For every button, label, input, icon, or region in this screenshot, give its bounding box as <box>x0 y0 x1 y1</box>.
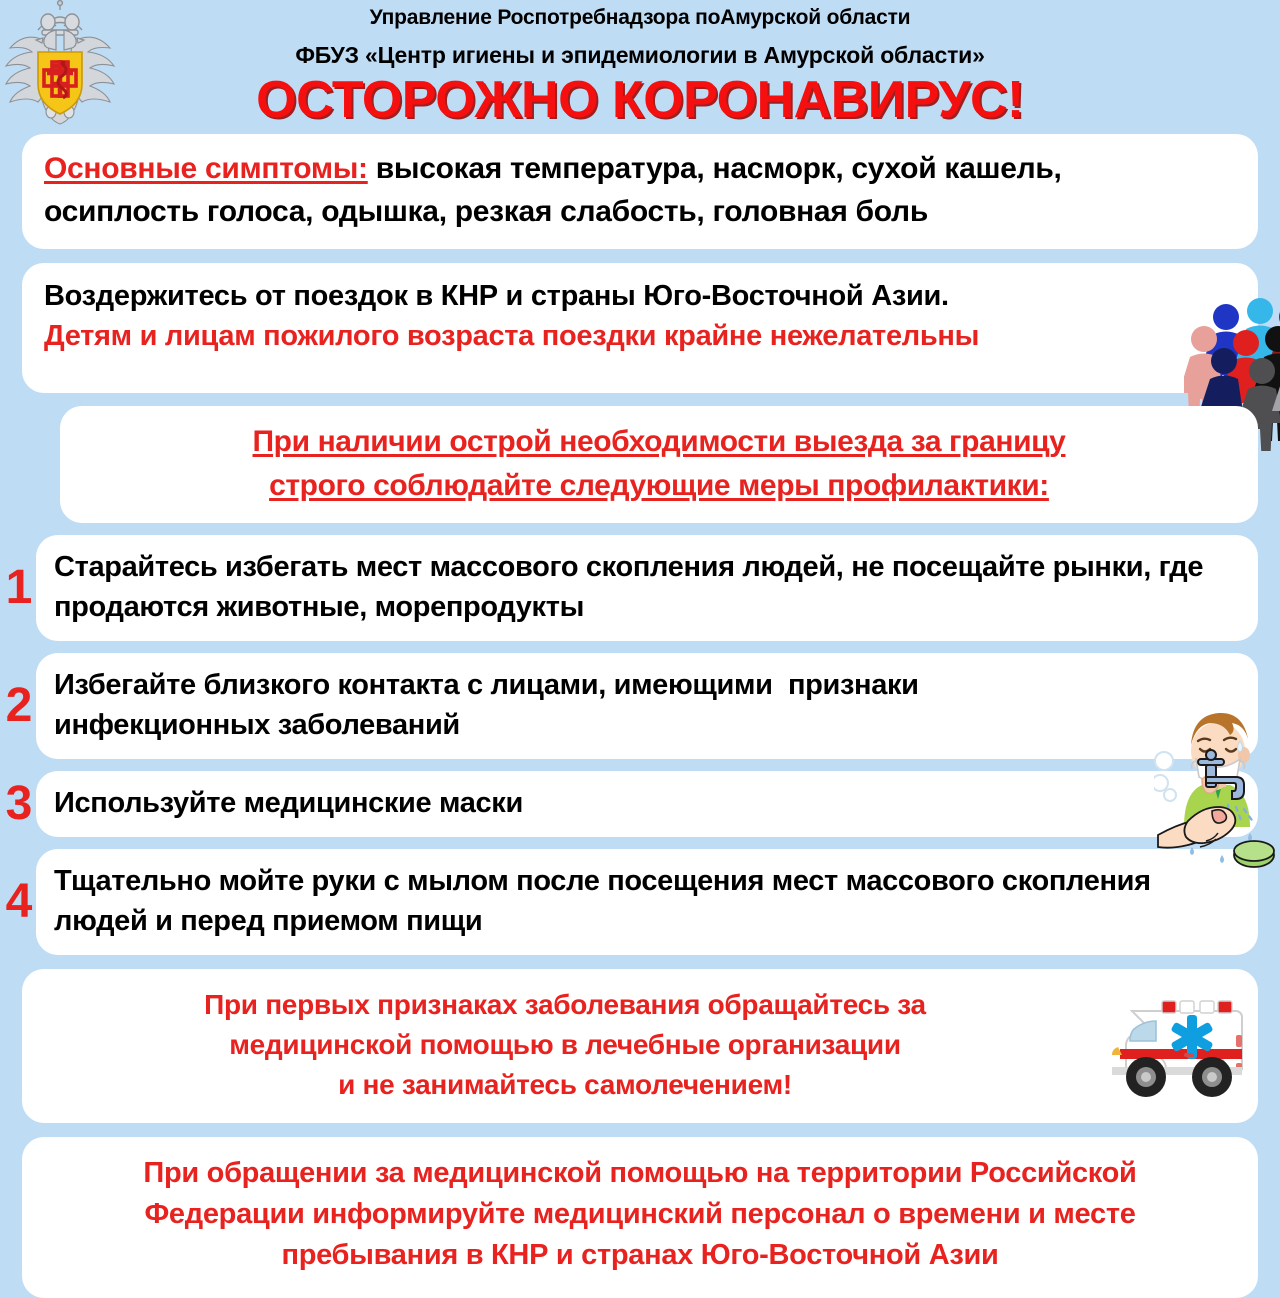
symptoms-line-2: осиплость голоса, одышка, резкая слабост… <box>44 191 1236 234</box>
inform-line-3: пребывания в КНР и странах Юго-Восточной… <box>46 1235 1234 1276</box>
urgent-travel-card: При наличии острой необходимости выезда … <box>60 406 1258 523</box>
measure-row-2: 2 Избегайте близкого контакта с лицами, … <box>0 653 1280 759</box>
measure-text-4: Тщательно мойте руки с мылом после посещ… <box>54 861 1218 941</box>
travel-line-2: Детям и лицам пожилого возраста поездки … <box>44 316 1094 356</box>
travel-advice-card: Воздержитесь от поездок в КНР и страны Ю… <box>22 263 1258 393</box>
handwashing-under-tap-graphic <box>1154 749 1280 875</box>
measure-card-2: Избегайте близкого контакта с лицами, им… <box>36 653 1258 759</box>
rospotrebnadzor-emblem <box>2 0 118 128</box>
inform-line-1: При обращении за медицинской помощью на … <box>46 1153 1234 1194</box>
symptoms-card: Основные симптомы: высокая температура, … <box>22 134 1258 249</box>
organization-line-2: ФБУЗ «Центр игиены и эпидемиологии в Аму… <box>0 30 1280 69</box>
seek-help-line-1: При первых признаках заболевания обращай… <box>40 985 1240 1025</box>
measure-card-4: Тщательно мойте руки с мылом после посещ… <box>36 849 1258 955</box>
urgent-line-1: При наличии острой необходимости выезда … <box>78 420 1240 464</box>
measure-number-2: 2 <box>2 682 36 730</box>
seek-help-line-3: и не занимайтесь самолечением! <box>40 1065 1240 1105</box>
measure-text-1: Старайтесь избегать мест массового скопл… <box>54 547 1228 627</box>
seek-help-card: При первых признаках заболевания обращай… <box>22 969 1258 1122</box>
ambulance-graphic <box>1088 985 1248 1103</box>
symptoms-label: Основные симптомы: <box>44 152 368 185</box>
measure-card-1: Старайтесь избегать мест массового скопл… <box>36 535 1258 641</box>
measure-number-3: 3 <box>2 780 36 828</box>
organization-line-1: Управление Роспотребнадзора поАмурской о… <box>0 0 1280 30</box>
measure-row-3: 3 Используйте медицинские маски <box>0 771 1280 837</box>
measure-text-2: Избегайте близкого контакта с лицами, им… <box>54 665 1118 745</box>
measure-text-3: Используйте медицинские маски <box>54 783 523 823</box>
seek-help-line-2: медицинской помощью в лечебные организац… <box>40 1025 1240 1065</box>
inform-line-2: Федерации информируйте медицинский персо… <box>46 1194 1234 1235</box>
measure-row-4: 4 Тщательно мойте руки с мылом после пос… <box>0 849 1280 955</box>
poster-header: Управление Роспотребнадзора поАмурской о… <box>0 0 1280 128</box>
measure-card-3: Используйте медицинские маски <box>36 771 1258 837</box>
urgent-line-2: строго соблюдайте следующие меры профила… <box>78 464 1240 508</box>
symptoms-line-1: Основные симптомы: высокая температура, … <box>44 148 1236 191</box>
travel-line-1: Воздержитесь от поездок в КНР и страны Ю… <box>44 277 1236 316</box>
symptoms-line-1-rest: высокая температура, насморк, сухой каше… <box>368 152 1062 185</box>
measure-row-1: 1 Старайтесь избегать мест массового ско… <box>0 535 1280 641</box>
measure-number-1: 1 <box>2 564 36 612</box>
measure-number-4: 4 <box>2 878 36 926</box>
inform-personnel-card: При обращении за медицинской помощью на … <box>22 1137 1258 1298</box>
page-title: ОСТОРОЖНО КОРОНАВИРУС! <box>0 69 1280 128</box>
